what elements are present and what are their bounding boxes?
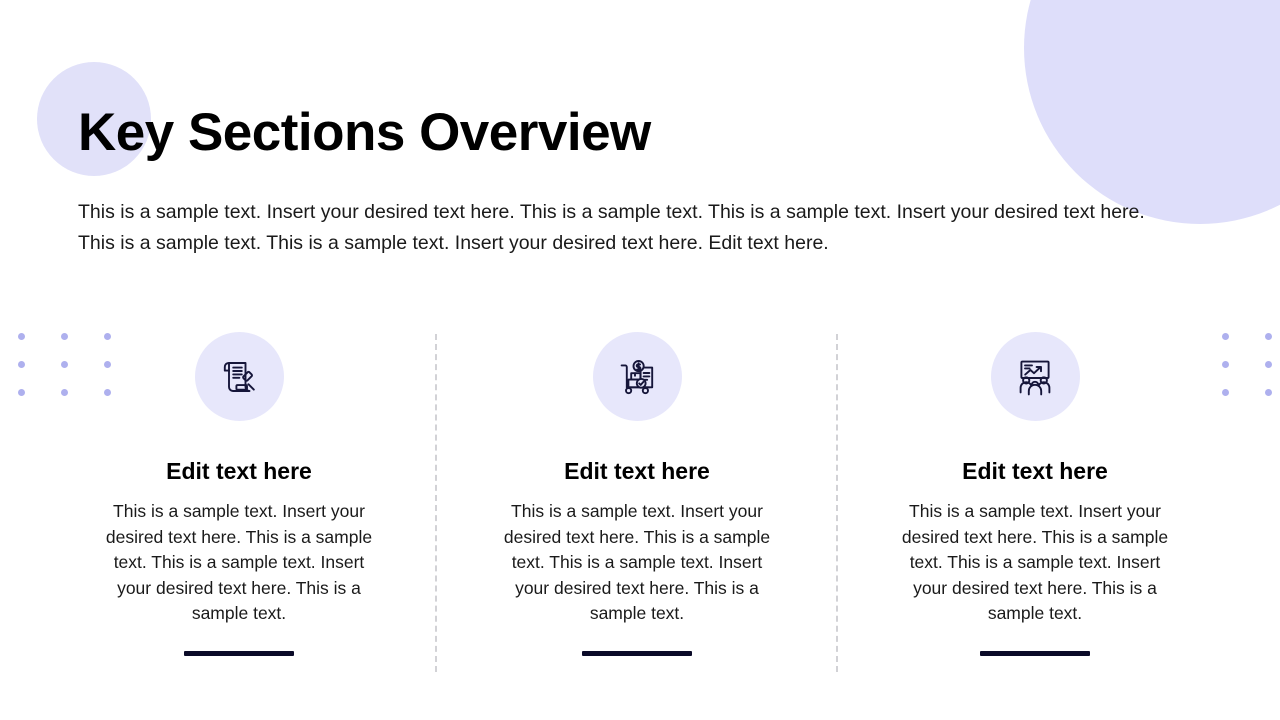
column-2-body: This is a sample text. Insert your desir… — [493, 499, 781, 627]
columns-container: Edit text here This is a sample text. In… — [40, 332, 1236, 672]
document-gavel-icon — [215, 353, 263, 401]
column-3-title: Edit text here — [962, 457, 1108, 485]
delivery-invoice-icon — [613, 353, 661, 401]
dot — [18, 361, 25, 368]
dot — [1265, 389, 1272, 396]
top-right-lavender-circle-decoration — [1024, 0, 1280, 224]
column-1-title: Edit text here — [166, 457, 312, 485]
dot — [1265, 361, 1272, 368]
icon-circle-1 — [195, 332, 284, 421]
column-2[interactable]: Edit text here This is a sample text. In… — [438, 332, 836, 656]
dot — [1265, 333, 1272, 340]
dot — [18, 333, 25, 340]
column-2-title: Edit text here — [564, 457, 710, 485]
column-3-underline — [980, 651, 1090, 656]
slide-canvas: Key Sections Overview This is a sample t… — [0, 0, 1280, 720]
column-1-body: This is a sample text. Insert your desir… — [95, 499, 383, 627]
icon-circle-2 — [593, 332, 682, 421]
page-subtitle: This is a sample text. Insert your desir… — [78, 197, 1174, 259]
team-presentation-chart-icon — [1011, 353, 1059, 401]
icon-circle-3 — [991, 332, 1080, 421]
column-3-body: This is a sample text. Insert your desir… — [891, 499, 1179, 627]
page-title: Key Sections Overview — [78, 98, 651, 168]
dot — [18, 389, 25, 396]
column-3[interactable]: Edit text here This is a sample text. In… — [836, 332, 1234, 656]
column-1-underline — [184, 651, 294, 656]
column-1[interactable]: Edit text here This is a sample text. In… — [40, 332, 438, 656]
column-2-underline — [582, 651, 692, 656]
